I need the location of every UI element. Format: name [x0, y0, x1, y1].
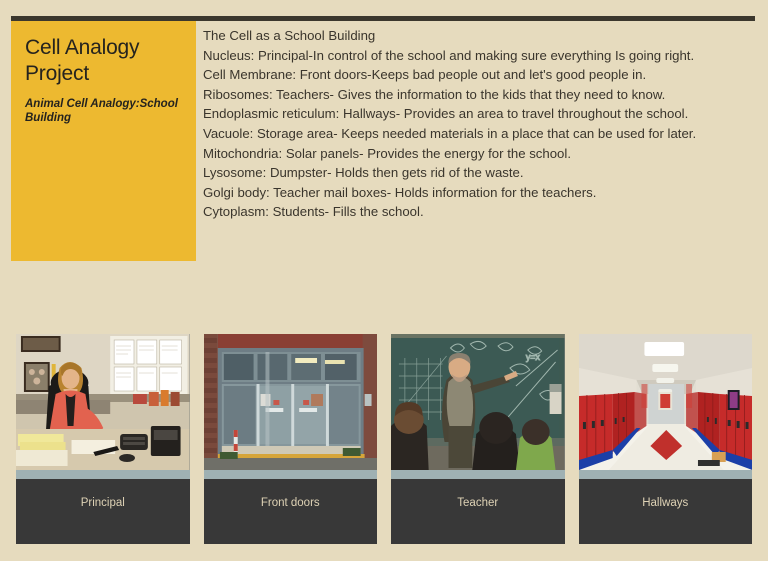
image-card-front-doors[interactable]: Front doors	[204, 334, 378, 544]
analogy-line: Ribosomes: Teachers- Gives the informati…	[203, 85, 755, 105]
image-card-hallways[interactable]: Hallways	[579, 334, 753, 544]
card-accent-strip	[579, 470, 753, 479]
card-caption-teacher: Teacher	[391, 479, 565, 544]
card-accent-strip	[16, 470, 190, 479]
analogy-text-block: The Cell as a School Building Nucleus: P…	[203, 26, 755, 222]
analogy-line: Cytoplasm: Students- Fills the school.	[203, 202, 755, 222]
analogy-line: Mitochondria: Solar panels- Provides the…	[203, 144, 755, 164]
hallways-photo	[579, 334, 753, 470]
analogy-line: Vacuole: Storage area- Keeps needed mate…	[203, 124, 755, 144]
analogy-line: Cell Membrane: Front doors-Keeps bad peo…	[203, 65, 755, 85]
analogy-line: Endoplasmic reticulum: Hallways- Provide…	[203, 104, 755, 124]
analogy-line: Golgi body: Teacher mail boxes- Holds in…	[203, 183, 755, 203]
page-subtitle: Animal Cell Analogy:School Building	[25, 97, 182, 125]
front-doors-photo	[204, 334, 378, 470]
analogy-line: Lysosome: Dumpster- Holds then gets rid …	[203, 163, 755, 183]
svg-text:y=x: y=x	[526, 352, 541, 362]
teacher-photo: y=x f(x)	[391, 334, 565, 470]
title-panel: Cell Analogy Project Animal Cell Analogy…	[11, 21, 196, 261]
card-caption-principal: Principal	[16, 479, 190, 544]
analogy-line: Nucleus: Principal-In control of the sch…	[203, 46, 755, 66]
card-accent-strip	[204, 470, 378, 479]
image-card-principal[interactable]: Principal	[16, 334, 190, 544]
image-card-row: Principal	[16, 334, 752, 544]
slide-canvas: Cell Analogy Project Animal Cell Analogy…	[0, 0, 768, 561]
card-caption-front-doors: Front doors	[204, 479, 378, 544]
image-card-teacher[interactable]: y=x f(x)	[391, 334, 565, 544]
card-accent-strip	[391, 470, 565, 479]
analogy-line: The Cell as a School Building	[203, 26, 755, 46]
card-caption-hallways: Hallways	[579, 479, 753, 544]
page-title: Cell Analogy Project	[25, 35, 182, 87]
principal-photo	[16, 334, 190, 470]
